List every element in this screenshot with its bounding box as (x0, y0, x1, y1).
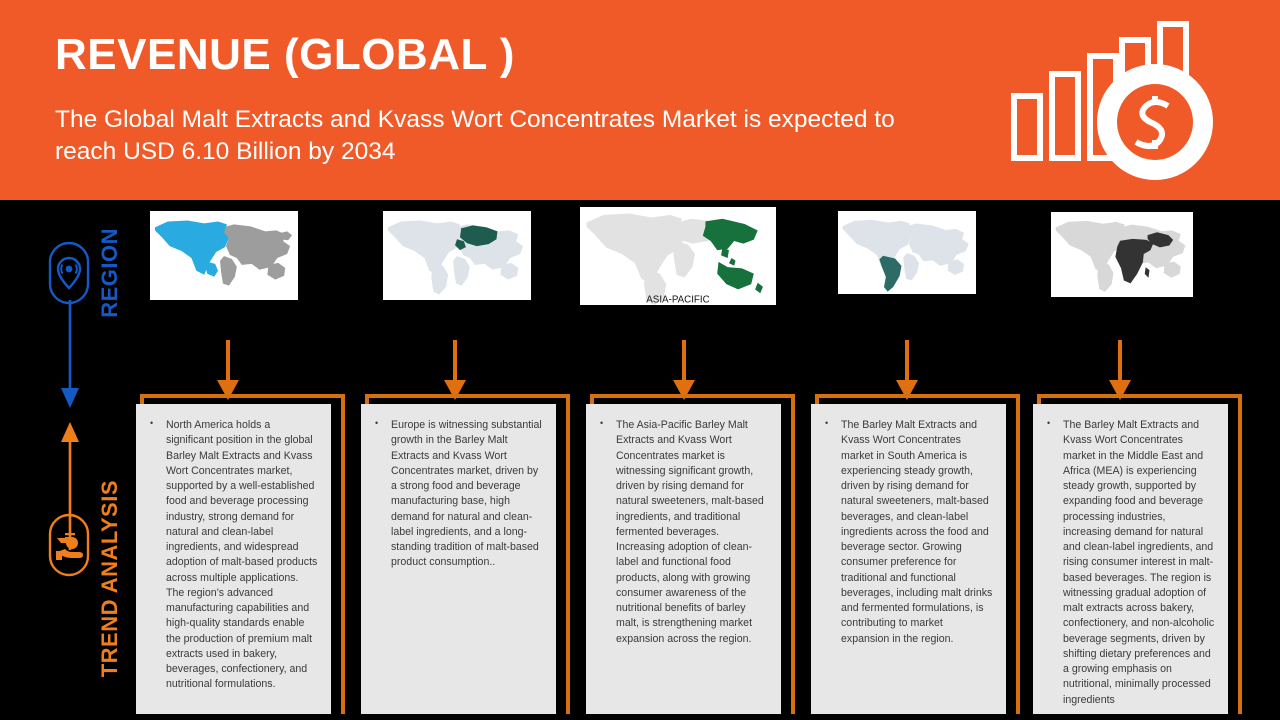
card-bullet: The Barley Malt Extracts and Kvass Wort … (1043, 418, 1216, 708)
map-card-europe (383, 211, 531, 300)
map-card-south-america (838, 211, 976, 294)
card-body: The Barley Malt Extracts and Kvass Wort … (811, 404, 1006, 714)
page-title: REVENUE (GLOBAL ) (55, 32, 515, 78)
card-bullet: Europe is witnessing substantial growth … (371, 418, 544, 571)
card-bullet: The Barley Malt Extracts and Kvass Wort … (821, 418, 994, 647)
trend-analysis-up-arrow (50, 420, 90, 555)
card-bullet: The Asia-Pacific Barley Malt Extracts an… (596, 418, 769, 647)
bar-chart-dollar-icon (1000, 18, 1230, 190)
page-subtitle: The Global Malt Extracts and Kvass Wort … (55, 104, 955, 169)
map-caption-asia-pacific: ASIA-PACIFIC (646, 294, 709, 305)
card-body: The Asia-Pacific Barley Malt Extracts an… (586, 404, 781, 714)
map-card-asia-pacific: ASIA-PACIFIC (580, 207, 776, 305)
header-banner: REVENUE (GLOBAL ) The Global Malt Extrac… (0, 0, 1280, 200)
rail-label-region: REGION (97, 228, 123, 318)
infographic-page: REVENUE (GLOBAL ) The Global Malt Extrac… (0, 0, 1280, 720)
region-down-arrow (50, 300, 90, 415)
map-card-north-america (150, 211, 298, 300)
card-body: The Barley Malt Extracts and Kvass Wort … (1033, 404, 1228, 714)
map-card-middle-east-africa (1051, 212, 1193, 297)
rail-label-trend-analysis: TREND ANALYSIS (97, 480, 123, 677)
card-bullet: North America holds a significant positi… (146, 418, 319, 693)
card-body: Europe is witnessing substantial growth … (361, 404, 556, 714)
card-body: North America holds a significant positi… (136, 404, 331, 714)
